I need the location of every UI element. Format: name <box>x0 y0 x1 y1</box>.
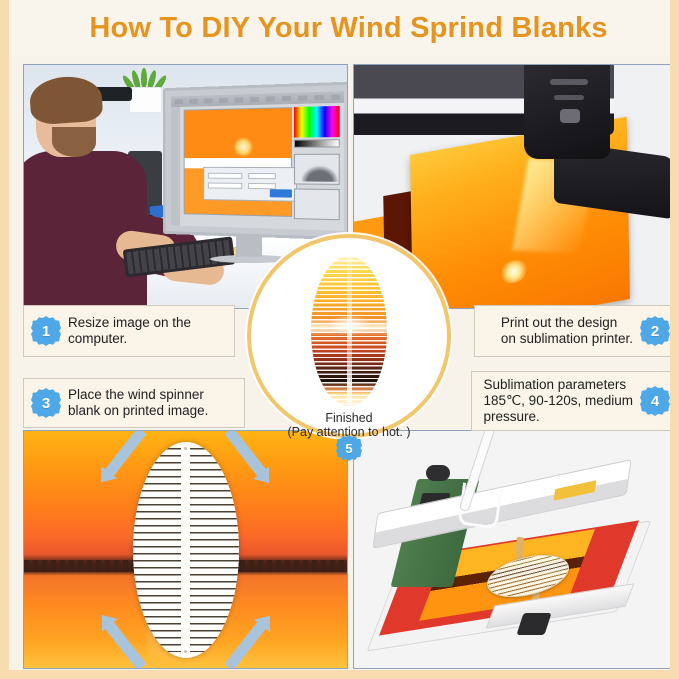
badge-number: 1 <box>42 323 50 340</box>
color-picker-panel <box>294 106 340 138</box>
step-badge-5: 5 <box>336 435 362 461</box>
resize-dialog <box>203 167 297 202</box>
caption-line-2: computer. <box>68 331 191 347</box>
finished-result-circle: Finished (Pay attention to hot. ) 5 <box>247 234 451 438</box>
editor-side-panels <box>294 106 340 225</box>
caption-line-1: Resize image on the <box>68 315 191 331</box>
press-pressure-knob[interactable] <box>426 465 450 481</box>
badge-5: 5 <box>336 435 362 461</box>
badge-1: 1 <box>31 316 61 346</box>
badge-number: 2 <box>651 323 659 340</box>
printer-button-bar[interactable] <box>550 79 588 85</box>
caption-text-step-4: Sublimation parameters 185℃, 90-120s, me… <box>484 377 634 425</box>
infographic-page: How To DIY Your Wind Sprind Blanks <box>0 0 679 679</box>
computer-monitor <box>163 81 347 240</box>
blank-wind-spinner <box>133 442 239 658</box>
finished-wind-spinner <box>311 256 387 406</box>
monitor-screen <box>171 91 344 231</box>
printer-button-bar-2[interactable] <box>554 95 584 100</box>
sun-glow <box>234 137 253 157</box>
dialog-ok-button[interactable] <box>270 189 292 197</box>
caption-line-3: pressure. <box>484 409 634 425</box>
badge-number: 3 <box>42 395 50 412</box>
badge-3: 3 <box>31 388 61 418</box>
finished-label-line1: Finished <box>251 411 447 425</box>
heat-press-scene <box>354 431 677 668</box>
caption-step-1: 1 Resize image on the computer. <box>23 305 235 357</box>
badge-4: 4 <box>640 386 670 416</box>
caption-line-1: Place the wind spinner <box>68 387 208 403</box>
caption-line-1: Sublimation parameters <box>484 377 634 393</box>
caption-line-2: blank on printed image. <box>68 403 208 419</box>
caption-step-3: 3 Place the wind spinner blank on printe… <box>23 378 245 428</box>
photo-blank-on-printed-image <box>24 431 347 668</box>
badge-number: 5 <box>345 441 352 456</box>
caption-text-step-1: Resize image on the computer. <box>68 315 191 347</box>
caption-line-2: on sublimation printer. <box>501 331 633 347</box>
badge-2: 2 <box>640 316 670 346</box>
caption-line-1: Print out the design <box>501 315 633 331</box>
gradient-strip <box>294 139 340 148</box>
title-bar: How To DIY Your Wind Sprind Blanks <box>9 0 679 56</box>
histogram-panel <box>294 154 340 185</box>
caption-step-4: Sublimation parameters 185℃, 90-120s, me… <box>471 371 678 431</box>
person-beard <box>52 127 96 157</box>
print-sun <box>499 258 529 285</box>
spinner-center-spine <box>181 445 190 655</box>
photo-heat-press <box>354 431 677 668</box>
layers-panel <box>294 188 340 220</box>
photo-panel-step-3 <box>23 430 348 669</box>
press-foot <box>516 613 551 635</box>
page-title: How To DIY Your Wind Sprind Blanks <box>89 12 607 45</box>
caption-text-step-2: Print out the design on sublimation prin… <box>501 315 633 347</box>
editor-menubar <box>171 91 344 107</box>
caption-line-2: 185℃, 90-120s, medium <box>484 393 634 409</box>
caption-text-step-3: Place the wind spinner blank on printed … <box>68 387 208 419</box>
photo-panel-step-4 <box>353 430 678 669</box>
monitor-stand <box>236 236 262 257</box>
editor-toolbar <box>171 107 180 226</box>
plant-pot <box>129 87 162 113</box>
finished-spinner-spine <box>347 256 352 406</box>
editor-canvas-sunset-image <box>184 107 292 217</box>
badge-number: 4 <box>651 393 659 410</box>
caption-step-2: Print out the design on sublimation prin… <box>474 305 678 357</box>
printer-power-button[interactable] <box>560 109 580 123</box>
